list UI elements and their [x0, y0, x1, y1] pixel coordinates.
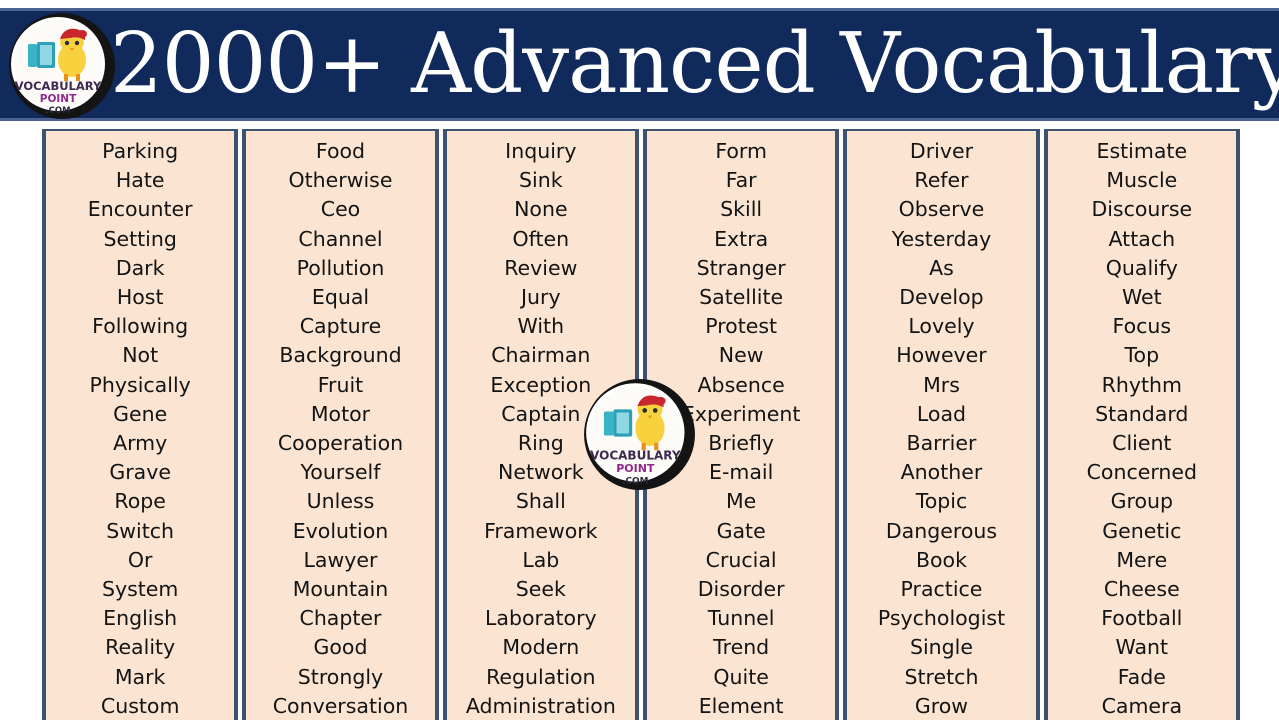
word-item: Framework	[447, 517, 635, 546]
word-item: Me	[647, 487, 835, 516]
word-item: Dangerous	[847, 517, 1035, 546]
word-item: Conversation	[246, 692, 434, 720]
word-item: Develop	[847, 283, 1035, 312]
word-item: Motor	[246, 400, 434, 429]
word-item: Custom	[46, 692, 234, 720]
word-item: Skill	[647, 195, 835, 224]
word-item: Observe	[847, 195, 1035, 224]
word-item: Gate	[647, 517, 835, 546]
word-item: Satellite	[647, 283, 835, 312]
word-item: Book	[847, 546, 1035, 575]
word-item: Element	[647, 692, 835, 720]
word-item: Fade	[1048, 663, 1236, 692]
logo-line1: VOCABULARY	[590, 449, 681, 463]
word-item: Laboratory	[447, 604, 635, 633]
word-item: Standard	[1048, 400, 1236, 429]
word-item: Not	[46, 341, 234, 370]
word-item: Wet	[1048, 283, 1236, 312]
word-item: Muscle	[1048, 166, 1236, 195]
word-item: Food	[246, 137, 434, 166]
word-item: Crucial	[647, 546, 835, 575]
word-item: Topic	[847, 487, 1035, 516]
word-item: Driver	[847, 137, 1035, 166]
word-item: Qualify	[1048, 254, 1236, 283]
word-item: Host	[46, 283, 234, 312]
logo-line1: VOCABULARY	[15, 79, 102, 93]
word-item: Extra	[647, 225, 835, 254]
word-item: Cooperation	[246, 429, 434, 458]
word-item: Background	[246, 341, 434, 370]
word-item: Dark	[46, 254, 234, 283]
word-item: Physically	[46, 371, 234, 400]
word-item: Pollution	[246, 254, 434, 283]
word-item: Mere	[1048, 546, 1236, 575]
word-item: Administration	[447, 692, 635, 720]
word-item: Discourse	[1048, 195, 1236, 224]
word-item: Top	[1048, 341, 1236, 370]
word-item: Trend	[647, 633, 835, 662]
word-item: Evolution	[246, 517, 434, 546]
word-column-6: EstimateMuscleDiscourseAttachQualifyWetF…	[1044, 129, 1240, 720]
word-column-1: ParkingHateEncounterSettingDarkHostFollo…	[42, 129, 238, 720]
word-item: Regulation	[447, 663, 635, 692]
word-item: Chairman	[447, 341, 635, 370]
word-item: Tunnel	[647, 604, 835, 633]
word-item: Camera	[1048, 692, 1236, 720]
word-item: Reality	[46, 633, 234, 662]
word-item: English	[46, 604, 234, 633]
word-item: Good	[246, 633, 434, 662]
word-item: Client	[1048, 429, 1236, 458]
word-item: Modern	[447, 633, 635, 662]
word-item: Review	[447, 254, 635, 283]
word-item: Single	[847, 633, 1035, 662]
word-item: Stranger	[647, 254, 835, 283]
word-item: Unless	[246, 487, 434, 516]
word-column-2: FoodOtherwiseCeoChannelPollutionEqualCap…	[242, 129, 438, 720]
word-item: Chapter	[246, 604, 434, 633]
word-item: Grave	[46, 458, 234, 487]
word-item: Capture	[246, 312, 434, 341]
word-item: Encounter	[46, 195, 234, 224]
word-item: Mountain	[246, 575, 434, 604]
word-item: Shall	[447, 487, 635, 516]
word-item: Protest	[647, 312, 835, 341]
book-icon	[28, 42, 55, 68]
word-item: Gene	[46, 400, 234, 429]
word-item: Channel	[246, 225, 434, 254]
word-item: Focus	[1048, 312, 1236, 341]
word-item: Concerned	[1048, 458, 1236, 487]
logo-line2: POINT	[616, 462, 655, 475]
word-item: Hate	[46, 166, 234, 195]
word-item: Barrier	[847, 429, 1035, 458]
word-item: Cheese	[1048, 575, 1236, 604]
word-item: Strongly	[246, 663, 434, 692]
word-item: Practice	[847, 575, 1035, 604]
word-item: Inquiry	[447, 137, 635, 166]
word-item: Quite	[647, 663, 835, 692]
word-item: Often	[447, 225, 635, 254]
word-item: Seek	[447, 575, 635, 604]
word-item: Rope	[46, 487, 234, 516]
word-item: Mark	[46, 663, 234, 692]
word-item: Football	[1048, 604, 1236, 633]
vocabulary-poster: 2000+ Advanced Vocabulary	[0, 0, 1279, 720]
word-item: Want	[1048, 633, 1236, 662]
word-item: Ceo	[246, 195, 434, 224]
word-item: Another	[847, 458, 1035, 487]
word-item: Lawyer	[246, 546, 434, 575]
word-item: Far	[647, 166, 835, 195]
word-item: Load	[847, 400, 1035, 429]
word-item: Disorder	[647, 575, 835, 604]
word-item: Setting	[46, 225, 234, 254]
vocabulary-point-logo-icon: VOCABULARY POINT .COM	[8, 12, 116, 120]
word-item: Yourself	[246, 458, 434, 487]
word-item: Refer	[847, 166, 1035, 195]
word-item: None	[447, 195, 635, 224]
word-item: Switch	[46, 517, 234, 546]
word-column-5: DriverReferObserveYesterdayAsDevelopLove…	[843, 129, 1039, 720]
word-item: As	[847, 254, 1035, 283]
word-item: Jury	[447, 283, 635, 312]
word-item: Sink	[447, 166, 635, 195]
word-item: Yesterday	[847, 225, 1035, 254]
word-item: Lab	[447, 546, 635, 575]
vocabulary-point-logo-icon: VOCABULARY POINT .COM	[583, 378, 696, 491]
word-item: Psychologist	[847, 604, 1035, 633]
logo-line3: .COM	[622, 477, 648, 487]
word-item: Rhythm	[1048, 371, 1236, 400]
word-item: Grow	[847, 692, 1035, 720]
book-icon	[604, 409, 632, 436]
page-title: 2000+ Advanced Vocabulary	[110, 21, 1279, 104]
word-item: Stretch	[847, 663, 1035, 692]
logo-watermark-center: VOCABULARY POINT .COM	[583, 378, 696, 491]
word-item: Form	[647, 137, 835, 166]
word-item: System	[46, 575, 234, 604]
word-item: Group	[1048, 487, 1236, 516]
word-item: Mrs	[847, 371, 1035, 400]
word-item: Parking	[46, 137, 234, 166]
word-item: New	[647, 341, 835, 370]
word-item: Lovely	[847, 312, 1035, 341]
word-item: Or	[46, 546, 234, 575]
word-item: Equal	[246, 283, 434, 312]
header-banner: 2000+ Advanced Vocabulary	[0, 8, 1279, 121]
logo-line3: .COM	[45, 106, 70, 116]
word-item: Estimate	[1048, 137, 1236, 166]
logo-line2: POINT	[40, 93, 77, 105]
word-item: Genetic	[1048, 517, 1236, 546]
logo-top-left: VOCABULARY POINT .COM	[8, 12, 116, 120]
word-item: Army	[46, 429, 234, 458]
word-item: However	[847, 341, 1035, 370]
word-item: Attach	[1048, 225, 1236, 254]
word-item: Fruit	[246, 371, 434, 400]
word-item: With	[447, 312, 635, 341]
word-item: Otherwise	[246, 166, 434, 195]
word-item: Following	[46, 312, 234, 341]
